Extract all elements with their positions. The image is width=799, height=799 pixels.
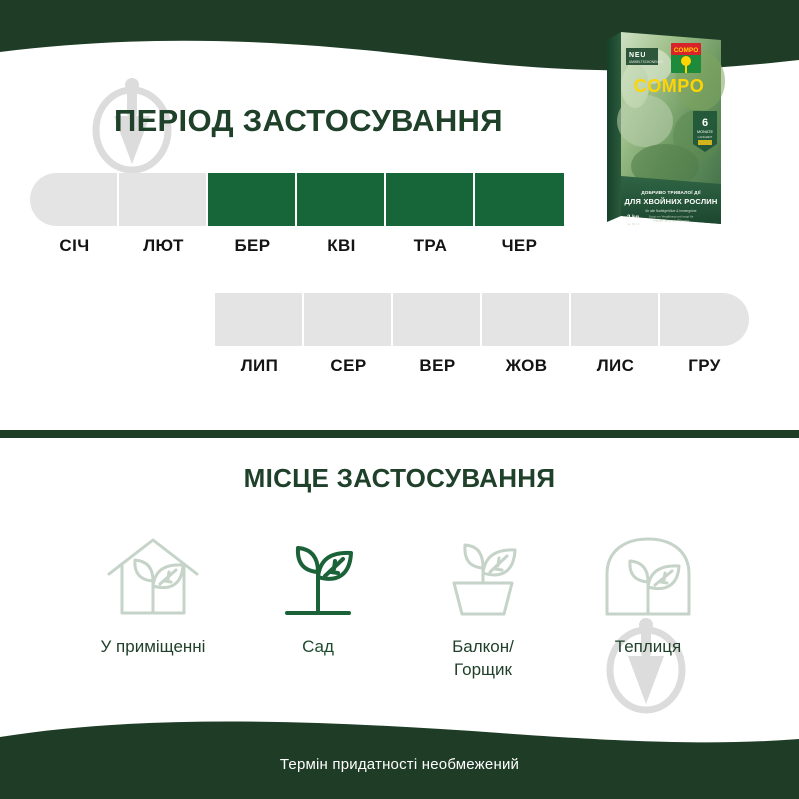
place-item-garden[interactable]: Сад	[243, 520, 393, 682]
period-section-title: ПЕРІОД ЗАСТОСУВАННЯ	[114, 103, 503, 139]
place-label: Теплиця	[573, 636, 723, 659]
month-cell-cher[interactable]: ЧЕР	[475, 173, 564, 256]
place-icon-wrap	[78, 520, 228, 620]
place-label: У приміщенні	[78, 636, 228, 659]
month-label: ТРА	[386, 236, 475, 256]
month-cell-lyp[interactable]: ЛИП	[215, 293, 304, 376]
month-bar	[215, 293, 302, 346]
svg-text:COMPO: COMPO	[634, 76, 705, 96]
month-label: ГРУ	[660, 356, 749, 376]
place-of-use-grid: У приміщенні Сад	[78, 520, 723, 682]
month-label: ЛИС	[571, 356, 660, 376]
place-section-title: МІСЦЕ ЗАСТОСУВАННЯ	[0, 463, 799, 494]
month-cell-ser[interactable]: СЕР	[304, 293, 393, 376]
svg-text:COMPO: COMPO	[674, 47, 699, 54]
place-icon-wrap	[243, 520, 393, 620]
month-cell-tra[interactable]: ТРА	[386, 173, 475, 256]
month-label: ЧЕР	[475, 236, 564, 256]
month-bar	[660, 293, 749, 346]
month-label: СЕР	[304, 356, 393, 376]
month-timeline-second-half: ЛИП СЕР ВЕР ЖОВ ЛИС ГРУ	[215, 293, 749, 376]
svg-text:kräftige, gesunde Pflanzen: kräftige, gesunde Pflanzen	[653, 219, 689, 223]
svg-text:NEU: NEU	[629, 52, 646, 59]
month-cell-lys[interactable]: ЛИС	[571, 293, 660, 376]
svg-text:für alle Nadelgehölze & Immerg: für alle Nadelgehölze & Immergrüne	[645, 209, 696, 213]
place-label-line1: Балкон/	[452, 637, 514, 656]
place-item-balcony-pot[interactable]: Балкон/Горщик	[408, 520, 558, 682]
greenhouse-plant-icon	[600, 534, 696, 620]
product-package-image: NEU UMWELTSCHONENDE COMPO COMPO 6 MONATE…	[605, 26, 725, 231]
house-plant-icon	[105, 534, 201, 620]
month-bar	[571, 293, 658, 346]
footer-wave-banner	[0, 711, 799, 799]
month-bar	[304, 293, 391, 346]
place-icon-wrap	[408, 520, 558, 620]
month-cell-sich[interactable]: СІЧ	[30, 173, 119, 256]
month-cell-hru[interactable]: ГРУ	[660, 293, 749, 376]
month-bar	[386, 173, 473, 226]
month-bar	[475, 173, 564, 226]
svg-text:UMWELTSCHONENDE: UMWELTSCHONENDE	[629, 60, 663, 64]
month-label: ЛЮТ	[119, 236, 208, 256]
svg-text:2 kg: 2 kg	[627, 215, 639, 221]
month-bar	[208, 173, 295, 226]
svg-text:LANGZEIT: LANGZEIT	[698, 135, 713, 139]
month-label: ВЕР	[393, 356, 482, 376]
svg-text:ДОБРИВО ТРИВАЛОЇ ДІЇ: ДОБРИВО ТРИВАЛОЇ ДІЇ	[641, 189, 701, 195]
place-item-indoor[interactable]: У приміщенні	[78, 520, 228, 682]
month-cell-zhov[interactable]: ЖОВ	[482, 293, 571, 376]
garden-sprout-icon	[273, 534, 363, 620]
month-bar	[119, 173, 206, 226]
potted-plant-icon	[438, 534, 528, 620]
month-label: КВІ	[297, 236, 386, 256]
place-label: Сад	[243, 636, 393, 659]
month-label: СІЧ	[30, 236, 119, 256]
footer-note: Термін придатності необмежений	[0, 756, 799, 773]
section-divider	[0, 430, 799, 438]
place-icon-wrap	[573, 520, 723, 620]
month-cell-lyut[interactable]: ЛЮТ	[119, 173, 208, 256]
place-item-greenhouse[interactable]: Теплиця	[573, 520, 723, 682]
place-label: Балкон/Горщик	[408, 636, 558, 682]
month-bar	[297, 173, 384, 226]
month-bar	[482, 293, 569, 346]
month-timeline-first-half: СІЧ ЛЮТ БЕР КВІ ТРА ЧЕР	[30, 173, 564, 256]
month-label: БЕР	[208, 236, 297, 256]
month-cell-ver[interactable]: ВЕР	[393, 293, 482, 376]
infographic-page: NEU UMWELTSCHONENDE COMPO COMPO 6 MONATE…	[0, 0, 799, 799]
month-cell-kvi[interactable]: КВІ	[297, 173, 386, 256]
svg-text:ca. 60 m²: ca. 60 m²	[627, 222, 640, 226]
month-bar	[393, 293, 480, 346]
month-cell-ber[interactable]: БЕР	[208, 173, 297, 256]
svg-text:MONATE: MONATE	[697, 130, 713, 134]
svg-text:6: 6	[702, 117, 708, 129]
month-bar	[30, 173, 117, 226]
month-label: ЖОВ	[482, 356, 571, 376]
svg-text:ДЛЯ ХВОЙНИХ РОСЛИН: ДЛЯ ХВОЙНИХ РОСЛИН	[624, 197, 717, 206]
place-label-line2: Горщик	[454, 660, 512, 679]
month-label: ЛИП	[215, 356, 304, 376]
